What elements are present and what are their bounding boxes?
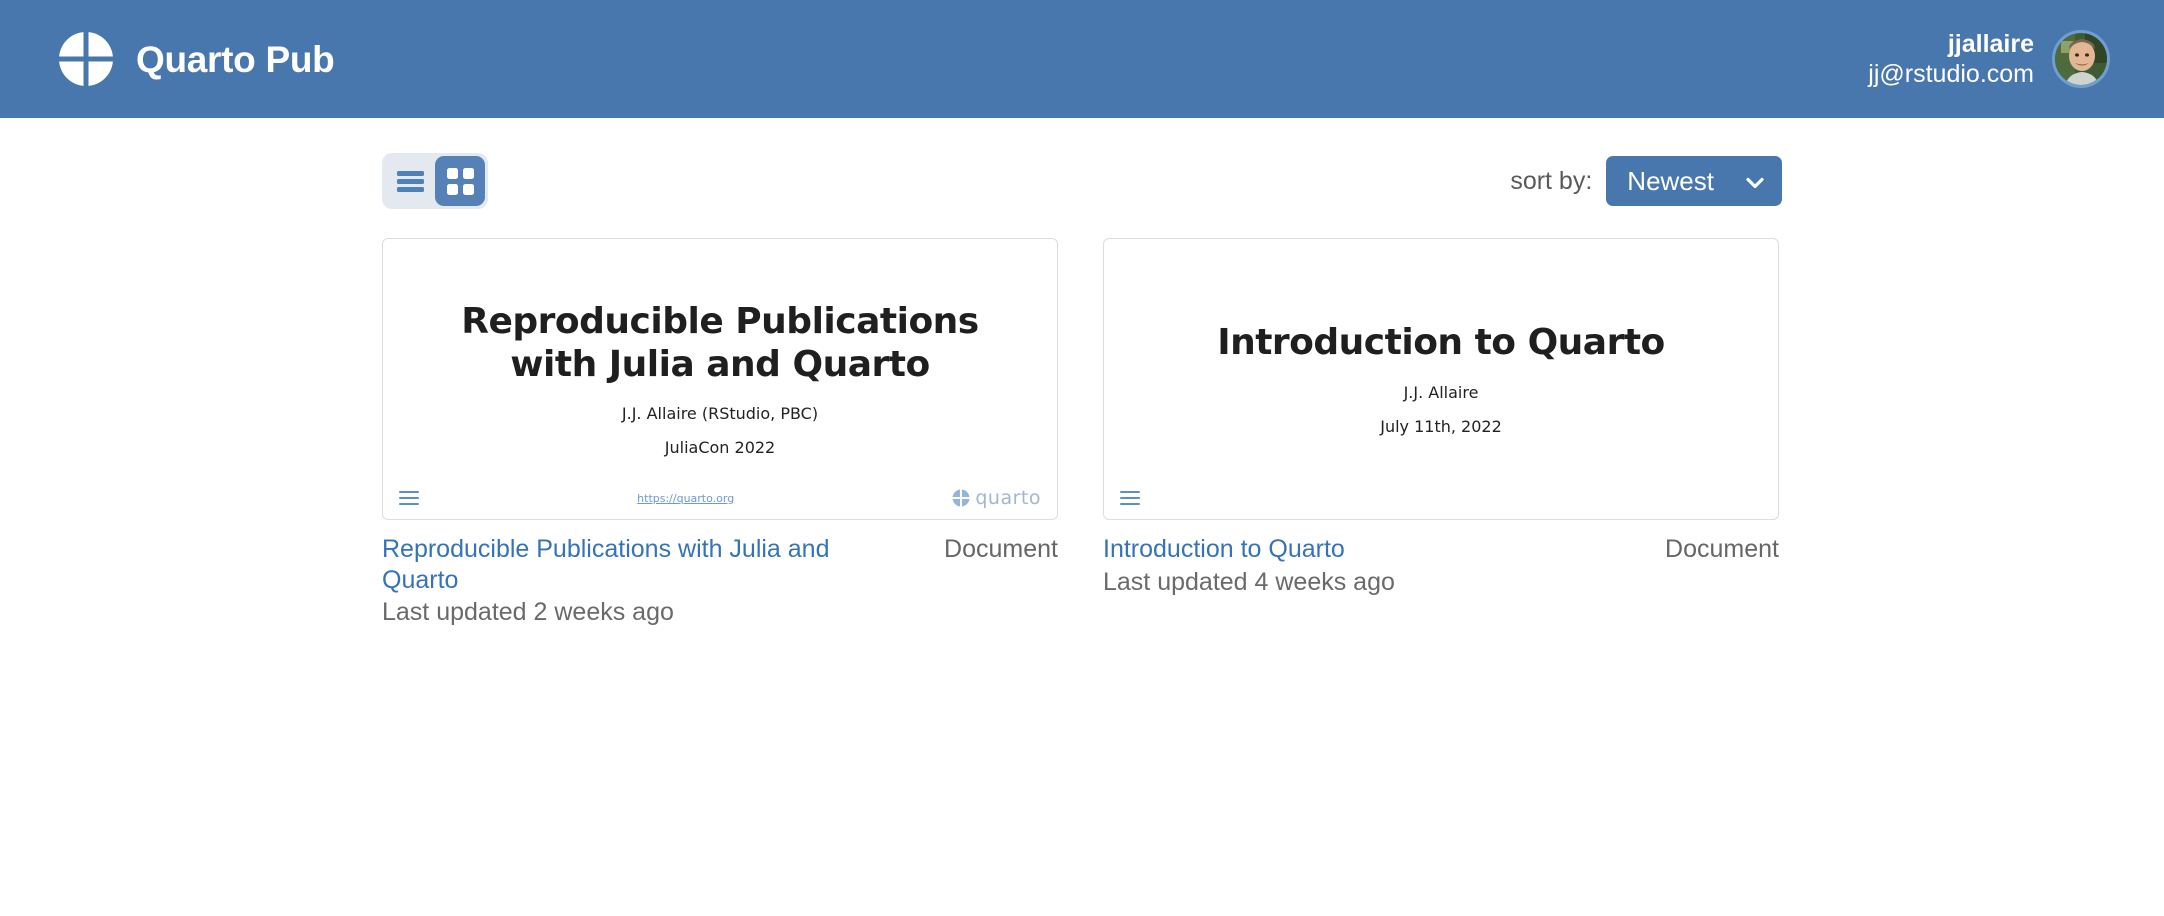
publication-thumbnail[interactable]: Introduction to Quarto J.J. Allaire July… <box>1103 238 1779 520</box>
thumbnail-title: Reproducible Publications with Julia and… <box>417 301 1023 386</box>
thumbnail-url-link[interactable]: https://quarto.org <box>419 492 952 505</box>
sort-select-value: Newest <box>1627 166 1714 197</box>
publication-updated: Last updated 4 weeks ago <box>1103 568 1779 597</box>
thumbnail-footer <box>1104 485 1778 511</box>
publication-title-link[interactable]: Introduction to Quarto <box>1103 534 1345 565</box>
publication-card: Introduction to Quarto J.J. Allaire July… <box>1103 238 1779 627</box>
publication-card: Reproducible Publications with Julia and… <box>382 238 1058 627</box>
thumbnail-title: Introduction to Quarto <box>1138 322 1744 364</box>
account-text: jjallaire jj@rstudio.com <box>1868 29 2034 90</box>
grid-view-button[interactable] <box>435 156 485 206</box>
sort-control: sort by: Newest <box>1510 156 1782 206</box>
sort-select[interactable]: Newest <box>1606 156 1782 206</box>
publication-kind: Document <box>944 534 1058 564</box>
publication-updated: Last updated 2 weeks ago <box>382 598 1058 627</box>
content-toolbar: sort by: Newest <box>382 150 1782 212</box>
account-username: jjallaire <box>1868 29 2034 60</box>
publication-meta: Reproducible Publications with Julia and… <box>382 534 1058 627</box>
publication-kind: Document <box>1665 534 1779 564</box>
app-title: Quarto Pub <box>136 41 334 78</box>
thumbnail-slide: Introduction to Quarto J.J. Allaire July… <box>1104 322 1778 435</box>
publication-thumbnail[interactable]: Reproducible Publications with Julia and… <box>382 238 1058 520</box>
account-menu[interactable]: jjallaire jj@rstudio.com <box>1868 29 2110 90</box>
grid-view-icon <box>447 168 474 195</box>
thumbnail-author: J.J. Allaire (RStudio, PBC) <box>417 404 1023 423</box>
publication-meta-row: Reproducible Publications with Julia and… <box>382 534 1058 595</box>
view-toggle-group <box>382 153 488 209</box>
quarto-circle-logo-icon <box>58 31 114 87</box>
quarto-logo-icon: quarto <box>952 487 1041 509</box>
publication-meta: Introduction to Quarto Document Last upd… <box>1103 534 1779 597</box>
page-content: sort by: Newest Reproducible Publication… <box>0 150 2164 627</box>
thumbnail-footer: https://quarto.org quarto <box>383 485 1057 511</box>
thumbnail-author: J.J. Allaire <box>1138 383 1744 402</box>
publication-title-link[interactable]: Reproducible Publications with Julia and… <box>382 534 872 595</box>
chevron-down-icon <box>1744 170 1766 192</box>
brand[interactable]: Quarto Pub <box>58 31 334 87</box>
avatar[interactable] <box>2052 30 2110 88</box>
list-view-icon <box>397 168 424 195</box>
thumbnail-slide: Reproducible Publications with Julia and… <box>383 301 1057 457</box>
sort-by-label: sort by: <box>1510 167 1592 196</box>
quarto-logo-text: quarto <box>975 487 1041 509</box>
list-view-button[interactable] <box>385 156 435 206</box>
hamburger-menu-icon[interactable] <box>399 491 419 505</box>
publication-meta-row: Introduction to Quarto Document <box>1103 534 1779 565</box>
thumbnail-event: JuliaCon 2022 <box>417 438 1023 457</box>
publications-grid: Reproducible Publications with Julia and… <box>382 238 1782 627</box>
app-header: Quarto Pub jjallaire jj@rstudio.com <box>0 0 2164 118</box>
hamburger-menu-icon[interactable] <box>1120 491 1140 505</box>
account-email: jj@rstudio.com <box>1868 59 2034 90</box>
thumbnail-event: July 11th, 2022 <box>1138 417 1744 436</box>
